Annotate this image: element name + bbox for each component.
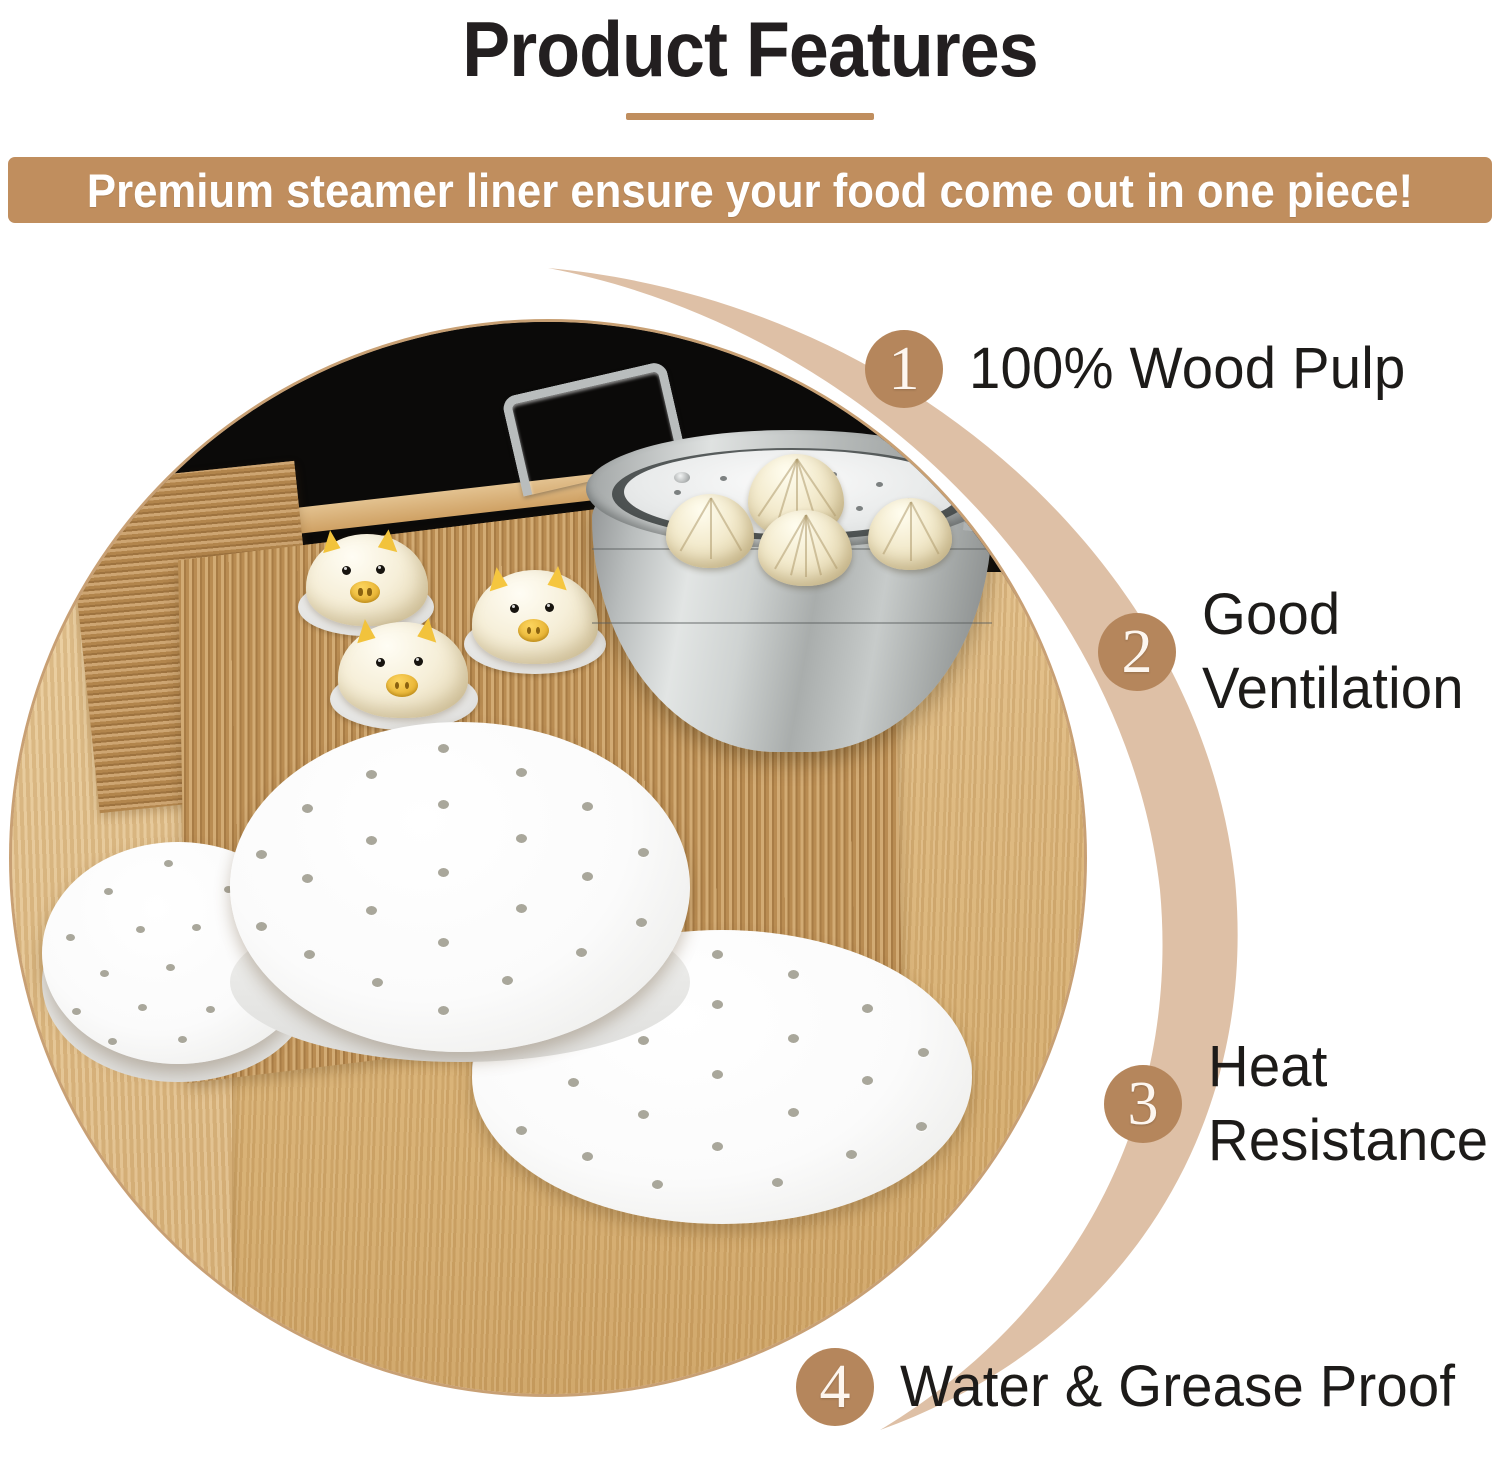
subtitle-text: Premium steamer liner ensure your food c… — [87, 163, 1413, 218]
page-title: Product Features — [60, 2, 1440, 96]
pig-snout — [350, 581, 380, 603]
pig-eye — [376, 658, 385, 667]
pig-snout — [518, 619, 549, 642]
pig-eye — [342, 566, 351, 575]
photo-inner — [12, 322, 1084, 1394]
title-underline-divider — [626, 113, 874, 120]
pig-eye — [510, 604, 519, 613]
feature-item-4: 4 Water & Grease Proof — [796, 1348, 1472, 1426]
pig-eye — [545, 603, 554, 612]
pig-eye — [376, 565, 385, 574]
feature-item-3: 3 Heat Resistance — [1104, 1030, 1497, 1178]
pig-eye — [414, 657, 423, 666]
pig-snout — [386, 674, 418, 697]
subtitle-banner: Premium steamer liner ensure your food c… — [8, 157, 1492, 223]
product-photo — [12, 322, 1084, 1394]
pig-ear-icon — [378, 528, 402, 552]
feature-badge-3: 3 — [1104, 1065, 1182, 1143]
feature-badge-1: 1 — [865, 330, 943, 408]
liner-disc-center — [230, 722, 690, 1052]
feature-label-4: Water & Grease Proof — [900, 1350, 1455, 1424]
feature-label-3: Heat Resistance — [1208, 1030, 1488, 1178]
pig-ear-icon — [547, 565, 572, 591]
feature-badge-4: 4 — [796, 1348, 874, 1426]
steamer-pot-rivet — [674, 472, 690, 483]
feature-item-1: 1 100% Wood Pulp — [865, 330, 1419, 408]
feature-item-2: 2 Good Ventilation — [1098, 578, 1472, 726]
feature-badge-2: 2 — [1098, 613, 1176, 691]
feature-label-2: Good Ventilation — [1202, 578, 1464, 726]
feature-label-1: 100% Wood Pulp — [969, 332, 1405, 406]
